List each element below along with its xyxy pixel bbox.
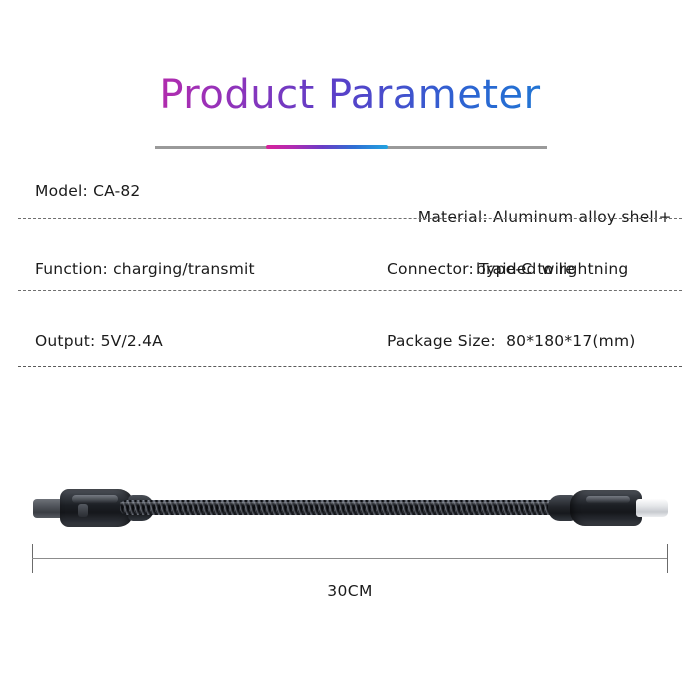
braided-cable <box>120 500 582 515</box>
dimension-label: 30CM <box>0 582 700 600</box>
row-divider-3 <box>18 366 682 367</box>
table-row: Output: 5V/2.4A Package Size: 80*180*17(… <box>0 310 700 382</box>
page-title: Product Parameter <box>0 68 700 122</box>
spec-connector: Connector: Type-C to lightning <box>350 256 700 282</box>
row-divider-2 <box>18 290 682 291</box>
spec-material-line1: Material: Aluminum alloy shell+ <box>418 208 672 226</box>
lightning-connector-tip <box>636 499 668 517</box>
row-divider-1 <box>18 218 682 219</box>
lightning-connector-housing <box>570 490 642 526</box>
spec-model: Model: CA-82 <box>0 178 350 204</box>
spec-package-size: Package Size: 80*180*17(mm) <box>350 328 700 354</box>
dimension-cap-right <box>667 544 668 573</box>
dimension-line <box>32 558 668 559</box>
product-parameter-infographic: { "header": { "title": "Product Paramete… <box>0 0 700 700</box>
dimension-indicator: 30CM <box>0 540 700 600</box>
table-row: Model: CA-82 Material: Aluminum alloy sh… <box>0 166 700 238</box>
spec-table: Model: CA-82 Material: Aluminum alloy sh… <box>0 166 700 382</box>
spec-output: Output: 5V/2.4A <box>0 328 350 354</box>
spec-function: Function: charging/transmit <box>0 256 350 282</box>
title-underline-accent <box>266 145 388 149</box>
table-row: Function: charging/transmit Connector: T… <box>0 238 700 310</box>
